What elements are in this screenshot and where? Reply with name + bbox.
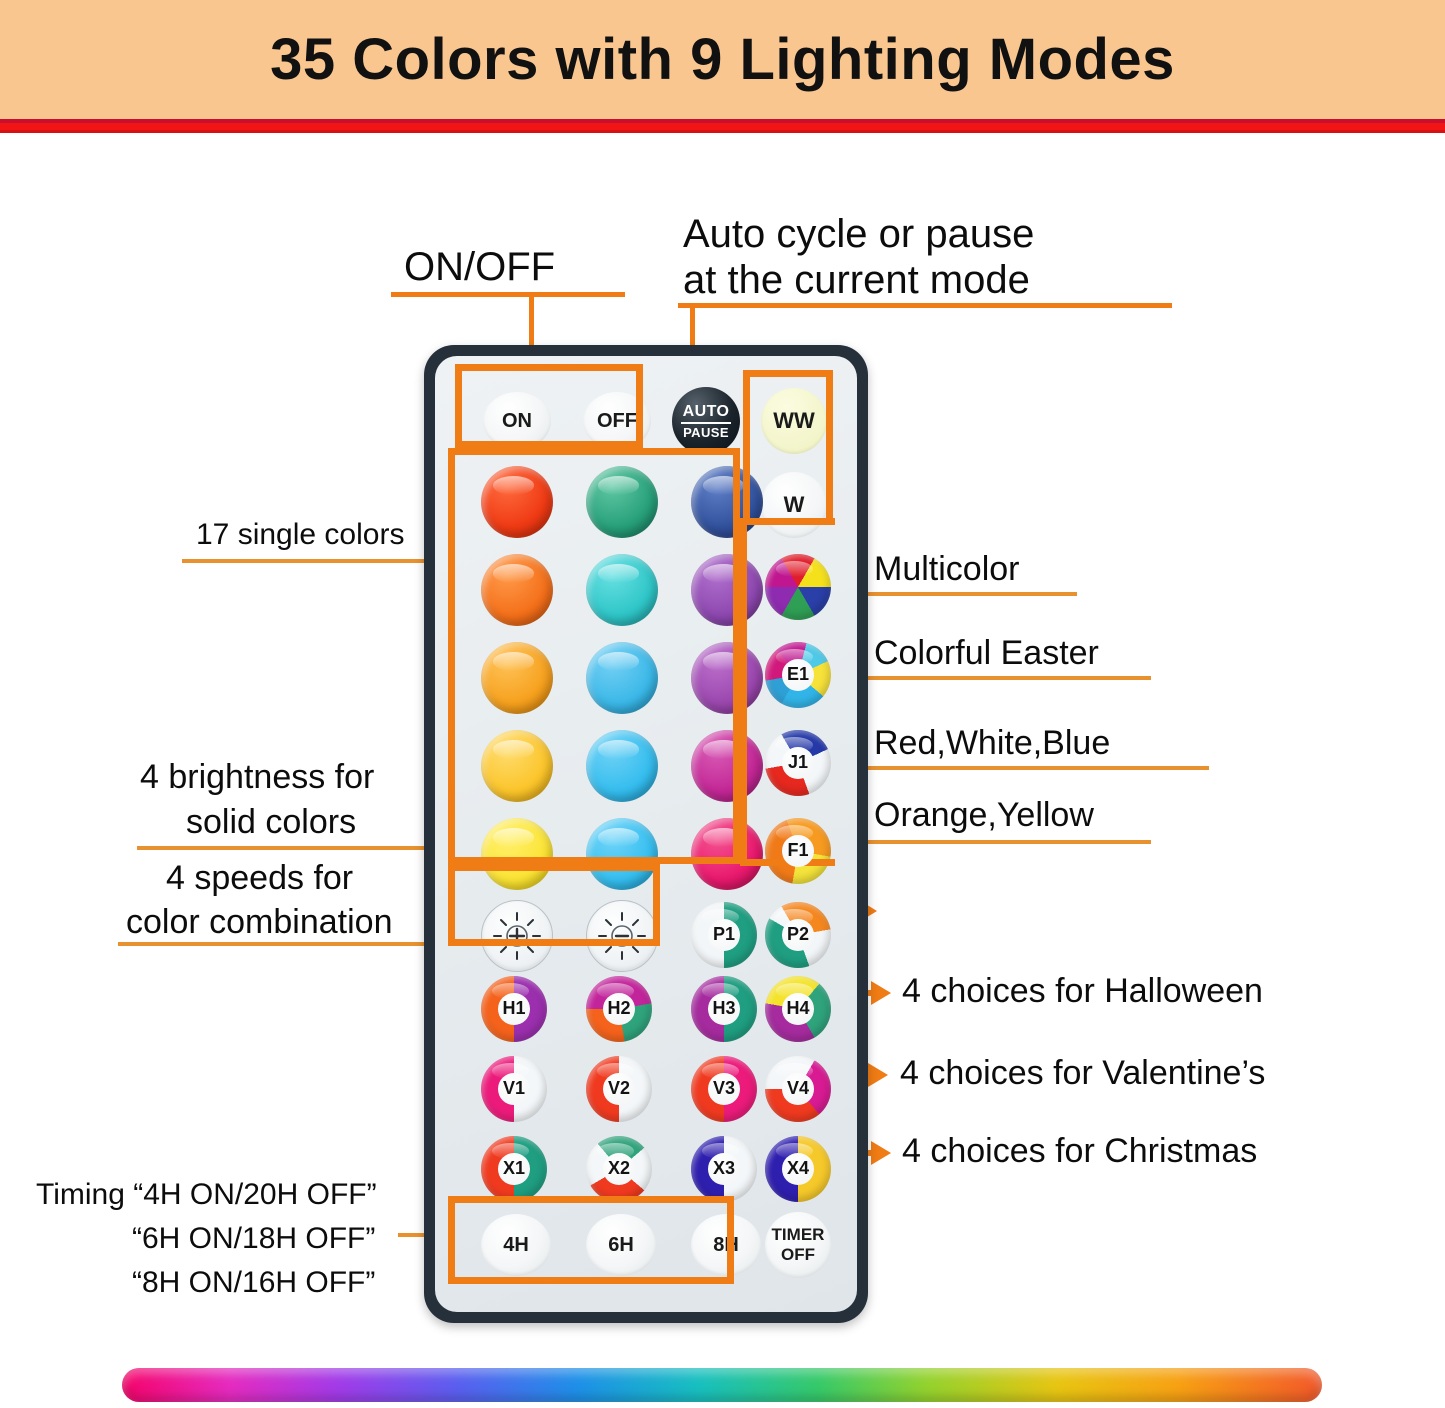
p1-label: P1 [708, 919, 740, 951]
header-divider-mid [0, 123, 1445, 130]
annotation-multicolor: Multicolor [874, 550, 1019, 589]
annotation-valentines: 4 choices for Valentine’s [900, 1054, 1265, 1093]
x1-label: X1 [498, 1153, 530, 1185]
auto-label: AUTO [683, 404, 730, 420]
auto-pause-button[interactable]: AUTO PAUSE [672, 387, 740, 455]
patriotic-label: J1 [782, 747, 814, 779]
annotation-timing-line3: “8H ON/16H OFF” [132, 1266, 375, 1300]
timer-off-label-2: OFF [781, 1245, 815, 1265]
h4-button[interactable]: H4 [765, 976, 831, 1042]
annotation-orange-yellow-underline [861, 840, 1151, 844]
annotation-single-colors-underline [182, 559, 450, 563]
v3-button[interactable]: V3 [691, 1056, 757, 1122]
annotation-red-white-blue: Red,White,Blue [874, 724, 1110, 763]
page-title: 35 Colors with 9 Lighting Modes [270, 26, 1175, 93]
auto-divider [681, 422, 731, 424]
annotation-auto-underline [678, 303, 1172, 308]
annotation-multicolor-underline [861, 592, 1077, 596]
annotation-timing-line1: Timing “4H ON/20H OFF” [36, 1178, 377, 1212]
highlight-single-colors [448, 448, 740, 864]
header-divider-bottom [0, 130, 1445, 133]
annotation-timing-line2: “6H ON/18H OFF” [132, 1222, 375, 1256]
highlight-white [743, 370, 833, 525]
v4-button[interactable]: V4 [765, 1056, 831, 1122]
x4-button[interactable]: X4 [765, 1136, 831, 1202]
x3-button[interactable]: X3 [691, 1136, 757, 1202]
easter-label: E1 [782, 659, 814, 691]
annotation-brightness-line2: solid colors [186, 803, 356, 842]
x4-label: X4 [782, 1153, 814, 1185]
highlight-brightness-speed [448, 864, 660, 946]
highlight-timer [448, 1196, 734, 1284]
valentines-arrow-head [868, 1063, 888, 1087]
christmas-arrow-head [871, 1141, 891, 1165]
v4-label: V4 [782, 1073, 814, 1105]
timer-off-button[interactable]: TIMER OFF [765, 1212, 831, 1278]
x2-label: X2 [603, 1153, 635, 1185]
timer-off-label-1: TIMER [772, 1225, 825, 1245]
h3-button[interactable]: H3 [691, 976, 757, 1042]
h2-label: H2 [603, 993, 635, 1025]
annotation-on-off-underline [391, 292, 625, 297]
pause-label: PAUSE [683, 426, 729, 439]
h3-label: H3 [708, 993, 740, 1025]
x2-button[interactable]: X2 [586, 1136, 652, 1202]
annotation-rwb-underline [861, 766, 1209, 770]
h1-label: H1 [498, 993, 530, 1025]
rainbow-light-bar [122, 1368, 1322, 1402]
p2-label: P2 [782, 919, 814, 951]
halloween-arrow-head [871, 981, 891, 1005]
v3-label: V3 [708, 1073, 740, 1105]
h4-label: H4 [782, 993, 814, 1025]
annotation-single-colors: 17 single colors [196, 518, 404, 552]
x3-label: X3 [708, 1153, 740, 1185]
v1-label: V1 [498, 1073, 530, 1105]
annotation-speeds-underline [118, 942, 448, 946]
annotation-orange-yellow: Orange,Yellow [874, 796, 1094, 835]
v2-button[interactable]: V2 [586, 1056, 652, 1122]
annotation-auto-line1: Auto cycle or pause [683, 212, 1034, 257]
annotation-speeds-line1: 4 speeds for [166, 859, 353, 898]
annotation-auto-line2: at the current mode [683, 258, 1030, 303]
annotation-on-off: ON/OFF [404, 245, 555, 290]
fall-label: F1 [782, 835, 814, 867]
v2-label: V2 [603, 1073, 635, 1105]
annotation-easter-underline [861, 676, 1151, 680]
h1-button[interactable]: H1 [481, 976, 547, 1042]
v1-button[interactable]: V1 [481, 1056, 547, 1122]
annotation-easter: Colorful Easter [874, 634, 1099, 673]
annotation-speeds-line2: color combination [126, 903, 392, 942]
p1-button[interactable]: P1 [691, 902, 757, 968]
x1-button[interactable]: X1 [481, 1136, 547, 1202]
annotation-halloween: 4 choices for Halloween [902, 972, 1263, 1011]
annotation-brightness-underline [137, 846, 445, 850]
header-banner: 35 Colors with 9 Lighting Modes [0, 0, 1445, 119]
p2-button[interactable]: P2 [765, 902, 831, 968]
annotation-christmas: 4 choices for Christmas [902, 1132, 1257, 1171]
highlight-on-off [455, 364, 643, 448]
annotation-brightness-line1: 4 brightness for [140, 758, 374, 797]
h2-button[interactable]: H2 [586, 976, 652, 1042]
